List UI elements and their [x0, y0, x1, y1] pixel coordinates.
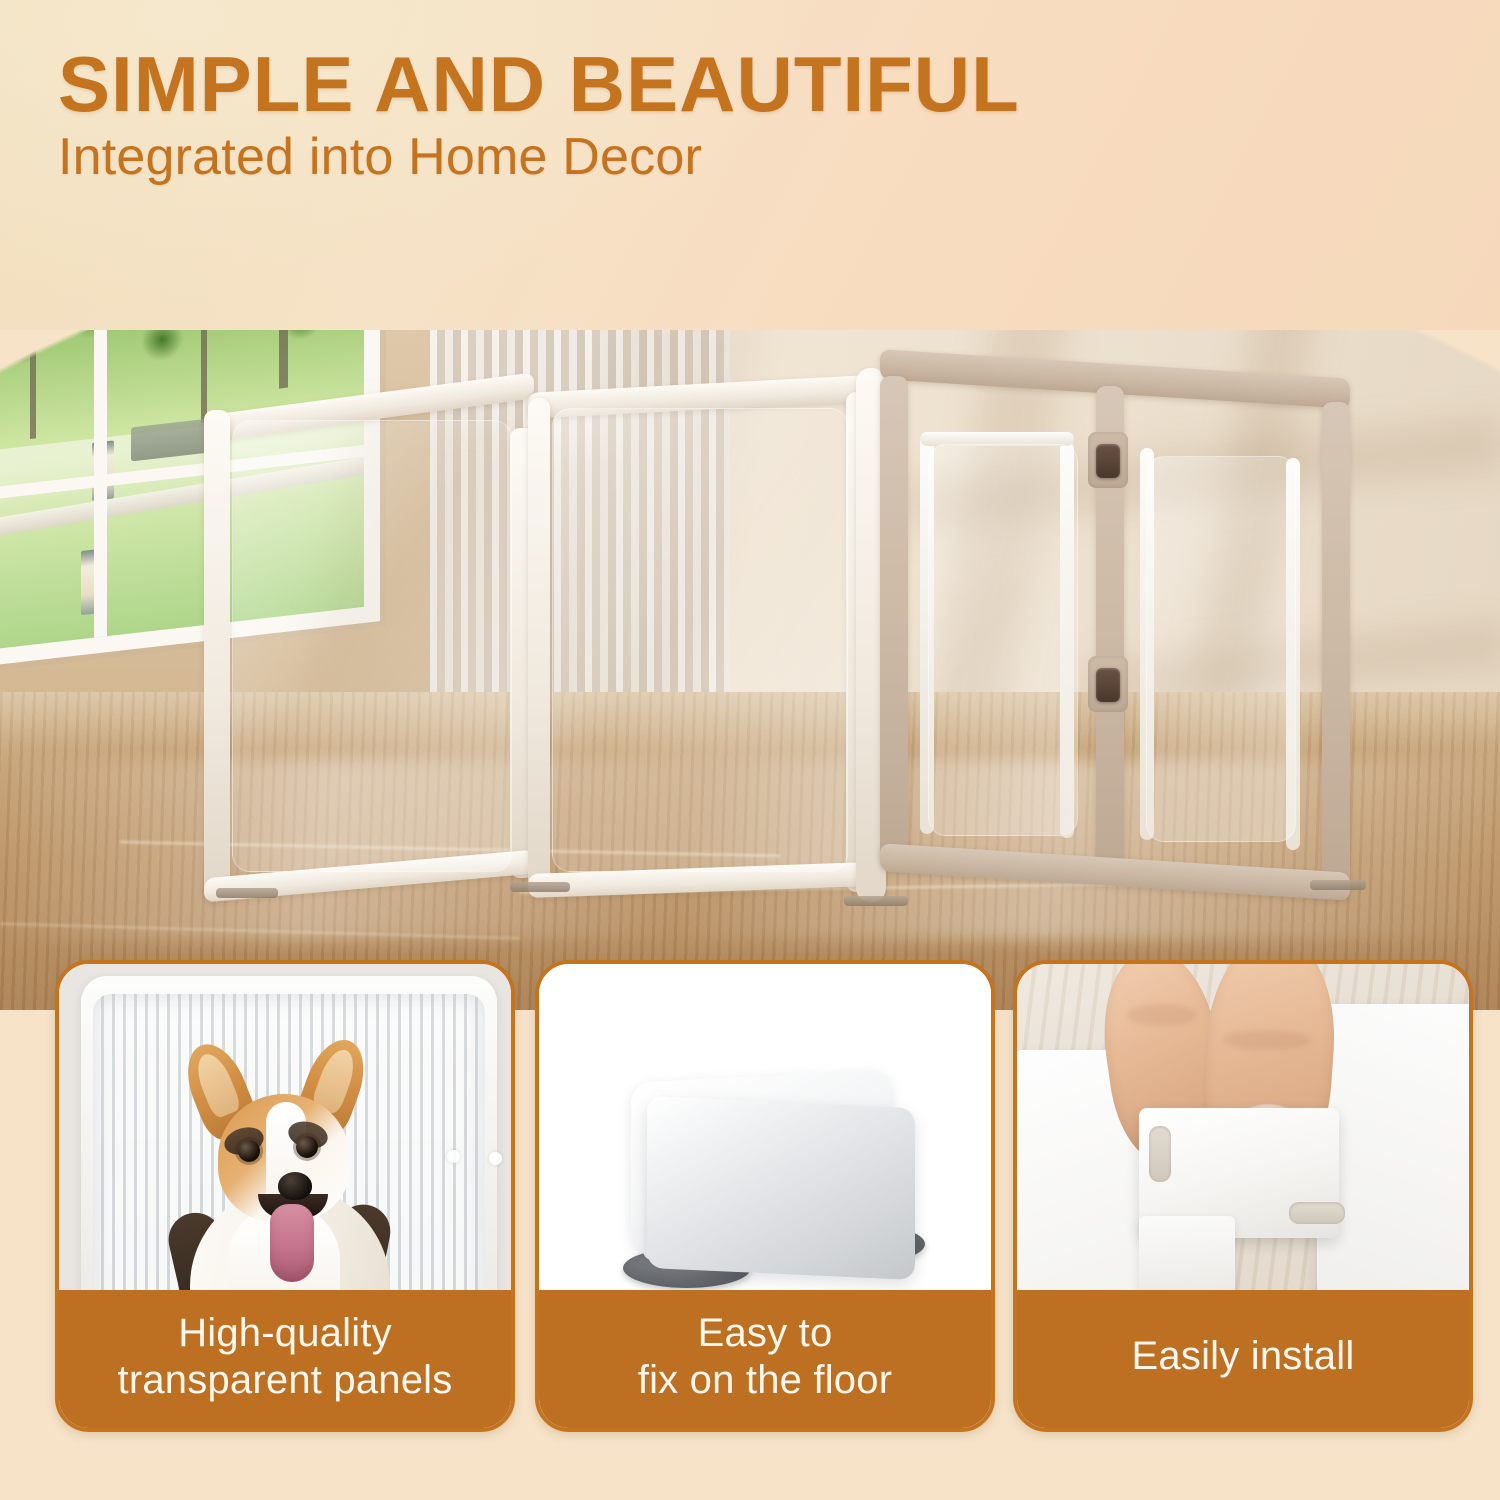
page-subtitle: Integrated into Home Decor — [58, 131, 1308, 184]
panel-rivet — [489, 1152, 502, 1165]
knuckle-crease — [1223, 1030, 1311, 1050]
caption-line-2: fix on the floor — [638, 1357, 892, 1404]
feature-card-row: High-quality transparent panels Easy to … — [0, 960, 1500, 1460]
page-title: SIMPLE AND BEAUTIFUL — [58, 46, 1308, 122]
playpen-foot — [844, 896, 908, 906]
bracket-front-wall — [647, 1096, 915, 1280]
caption-line-1: High-quality — [178, 1310, 392, 1357]
transparent-panel — [232, 420, 512, 872]
card-caption: Easily install — [1017, 1290, 1469, 1428]
knuckle-crease — [1127, 1004, 1197, 1026]
dog-tongue — [270, 1204, 314, 1282]
dog-inner-ear — [191, 1049, 243, 1120]
latch-pin-lower[interactable] — [1096, 668, 1120, 702]
panel-post-left — [528, 398, 550, 888]
dog-nose — [278, 1172, 312, 1200]
latch-pin-upper[interactable] — [1096, 444, 1120, 478]
panel-rivet — [447, 1150, 460, 1163]
caption-line-1: Easy to — [698, 1310, 833, 1357]
clip-slot — [1289, 1202, 1345, 1224]
product-feature-poster: SIMPLE AND BEAUTIFUL Integrated into Hom… — [0, 0, 1500, 1500]
header: SIMPLE AND BEAUTIFUL Integrated into Hom… — [58, 46, 1308, 184]
transparent-panel — [552, 408, 848, 872]
transparent-panel — [1146, 456, 1296, 842]
clip-tab — [1139, 1216, 1235, 1300]
caption-line-2: transparent panels — [118, 1357, 453, 1404]
card-caption: High-quality transparent panels — [59, 1290, 511, 1428]
card-caption: Easy to fix on the floor — [539, 1290, 991, 1428]
clip-slot — [1149, 1126, 1171, 1182]
gate-post-left — [880, 376, 908, 866]
playpen-foot — [1310, 880, 1366, 890]
playpen-foot — [216, 888, 278, 898]
feature-card-transparent-panels[interactable]: High-quality transparent panels — [55, 960, 515, 1432]
panel-post-left — [204, 410, 230, 898]
dog-eye-right — [296, 1136, 318, 1158]
feature-card-fix-on-floor[interactable]: Easy to fix on the floor — [535, 960, 995, 1432]
transparent-panel — [928, 444, 1078, 836]
pet-playpen — [180, 358, 1360, 918]
playpen-foot — [510, 882, 570, 892]
feature-card-easily-install[interactable]: Easily install — [1013, 960, 1473, 1432]
gate-post-right — [1322, 402, 1350, 892]
dog-eye-left — [238, 1140, 260, 1162]
caption-line-1: Easily install — [1132, 1333, 1355, 1380]
